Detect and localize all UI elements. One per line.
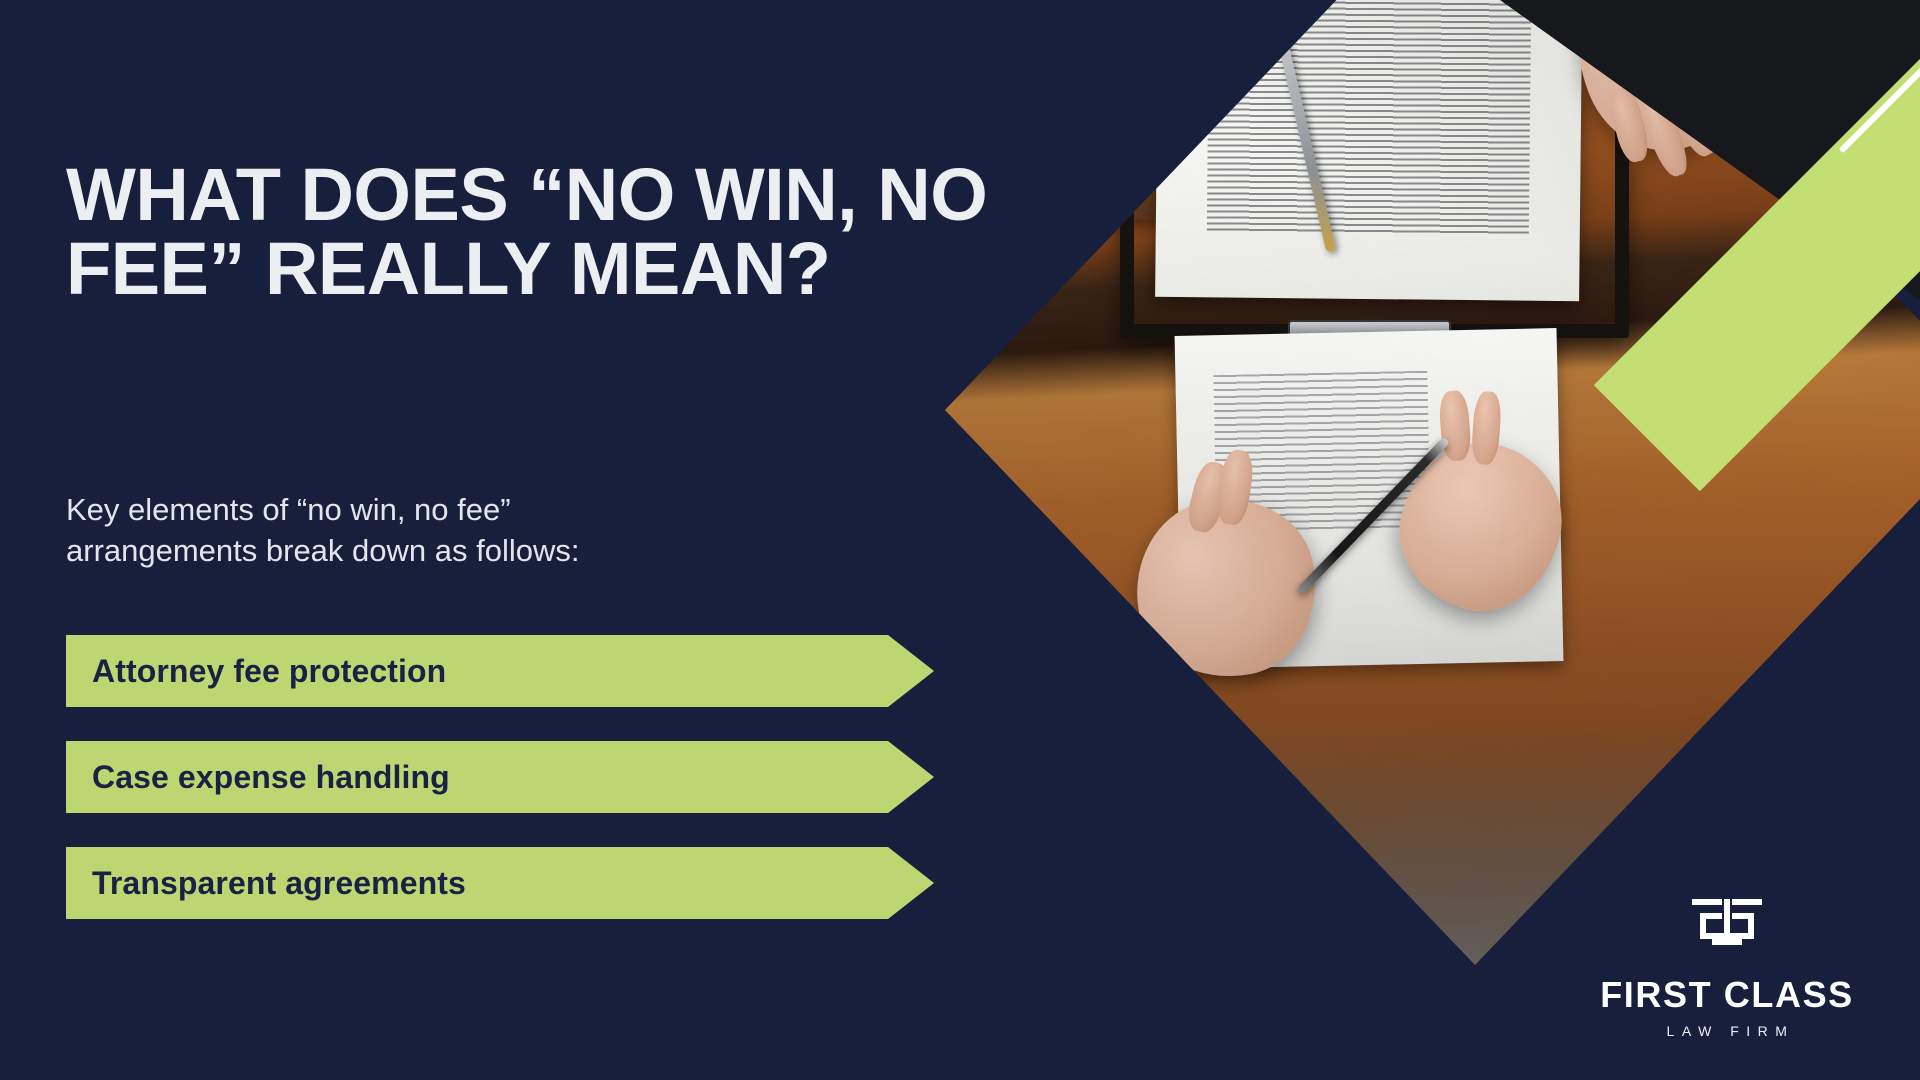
banner-label: Transparent agreements <box>66 865 466 902</box>
slide-canvas: WHAT DOES “NO WIN, NO FEE” REALLY MEAN? … <box>0 0 1920 1080</box>
banner-label: Case expense handling <box>66 759 450 796</box>
contract-page-top <box>1155 0 1583 301</box>
brand-logo[interactable]: FIRST CLASS LAW FIRM <box>1586 897 1868 1038</box>
hand-upper-left <box>1015 0 1204 171</box>
banner-item-2[interactable]: Case expense handling <box>66 741 934 813</box>
logo-name: FIRST CLASS <box>1600 977 1854 1013</box>
banner-label: Attorney fee protection <box>66 653 446 690</box>
banner-list: Attorney fee protection Case expense han… <box>66 635 986 953</box>
page-title: WHAT DOES “NO WIN, NO FEE” REALLY MEAN? <box>66 158 1066 306</box>
content-column: WHAT DOES “NO WIN, NO FEE” REALLY MEAN? … <box>66 0 946 1080</box>
subtitle-text: Key elements of “no win, no fee” arrange… <box>66 490 706 572</box>
banner-item-1[interactable]: Attorney fee protection <box>66 635 934 707</box>
logo-tagline: LAW FIRM <box>1660 1024 1795 1038</box>
first-class-f-monogram-icon <box>1690 897 1764 963</box>
banner-item-3[interactable]: Transparent agreements <box>66 847 934 919</box>
